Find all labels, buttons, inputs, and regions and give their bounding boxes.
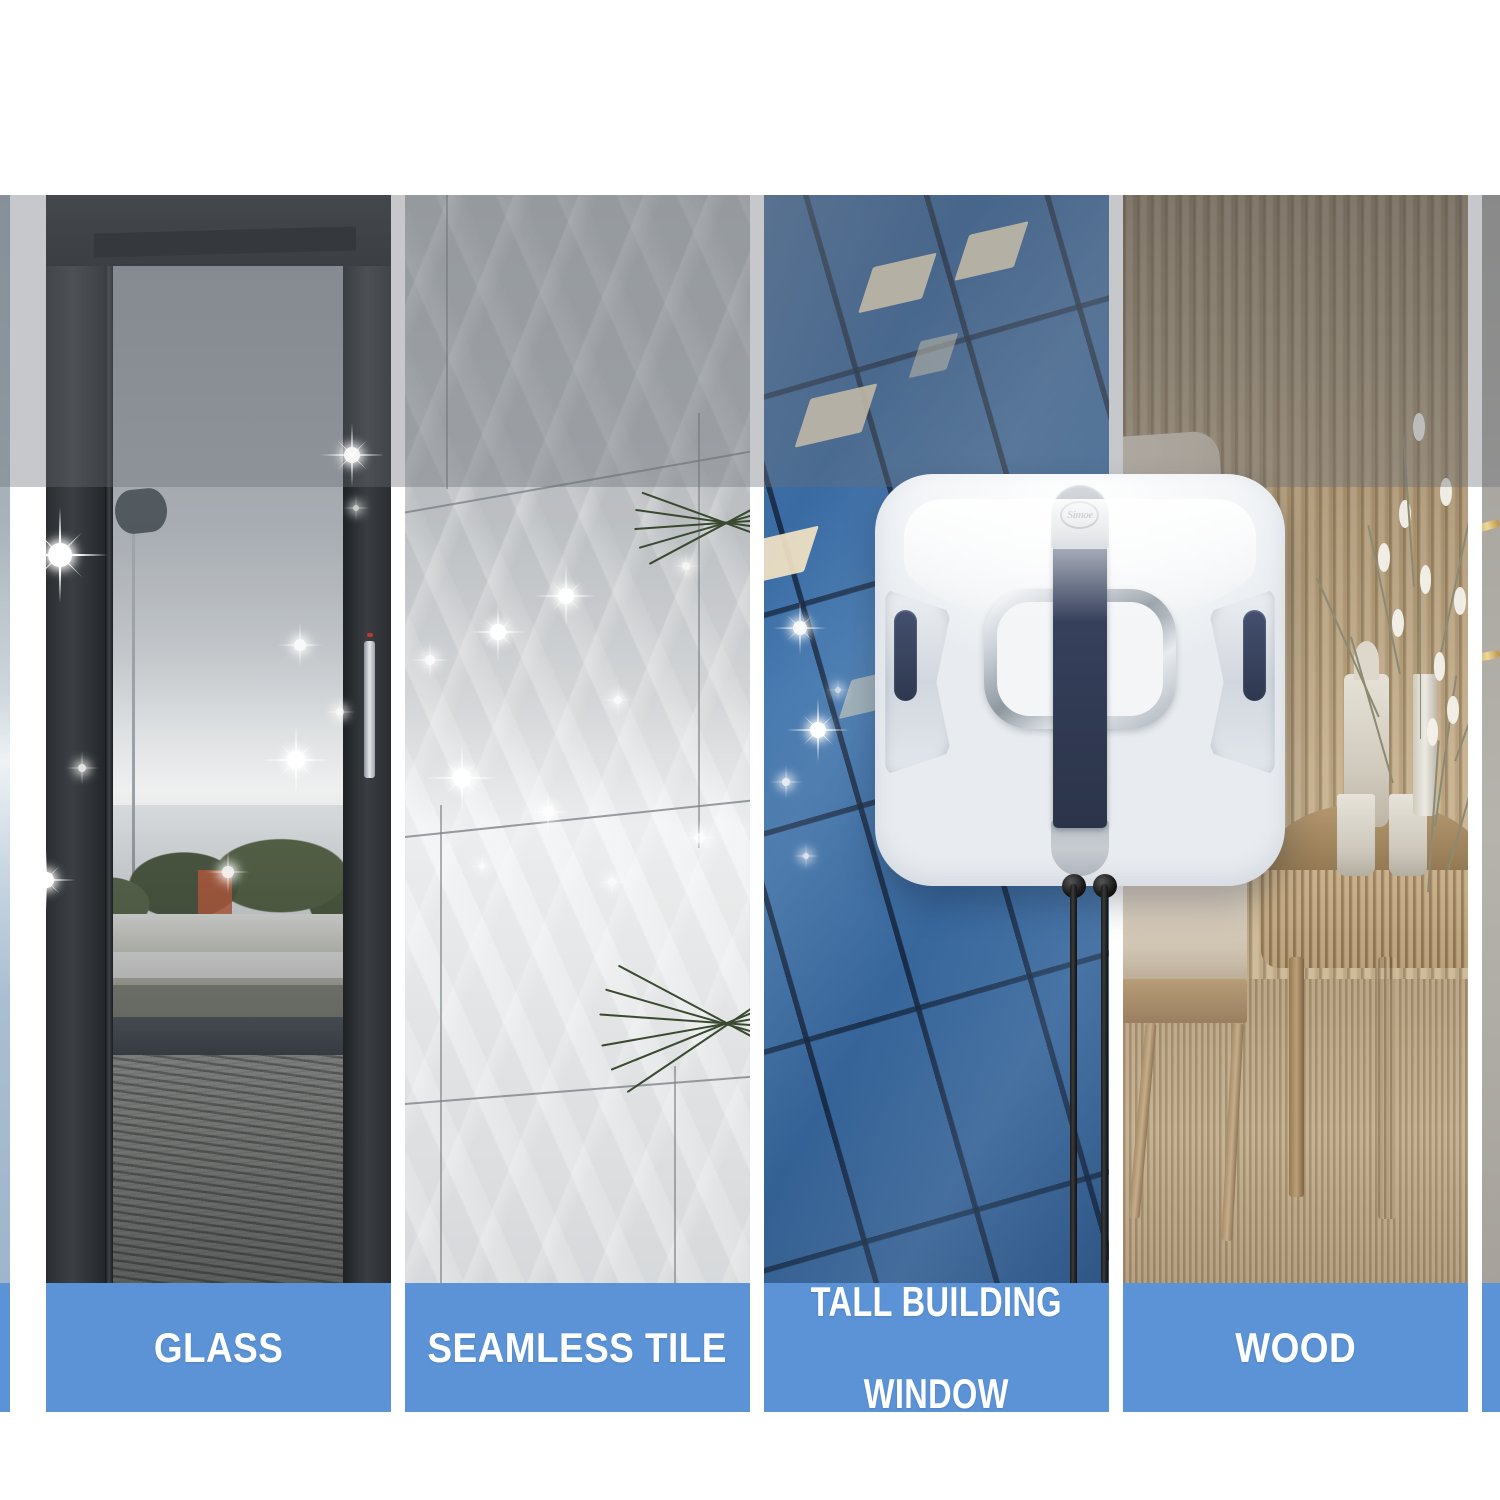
title-area-background	[0, 0, 1500, 195]
glass-tint-overlay	[113, 252, 343, 1284]
panel-seamless-tile	[405, 195, 750, 1284]
armchair-frame	[1123, 979, 1247, 1023]
robot-button-right[interactable]	[1243, 610, 1266, 701]
safety-cable	[1070, 884, 1077, 1290]
flower-twig	[1420, 587, 1422, 739]
caption-line-1: TALL BUILDING	[811, 1279, 1062, 1325]
coffee-table-skirt	[1261, 870, 1468, 968]
robot-center-strip	[1053, 536, 1106, 829]
flower-bloom	[1420, 565, 1432, 593]
ceramic-bowl	[1337, 794, 1375, 876]
brand-logo: Simoe	[1060, 501, 1099, 529]
door-handle	[364, 641, 376, 777]
coffee-table-leg	[1378, 957, 1395, 1218]
window-cleaning-robot[interactable]: Simoe	[875, 474, 1285, 886]
caption-edge-left	[0, 1283, 10, 1412]
glass-door-scene	[46, 195, 391, 1284]
caption-tall-building-window-label: TALL BUILDING WINDOW	[794, 1279, 1080, 1417]
grout-line-vertical	[446, 195, 448, 489]
flower-bloom	[1447, 696, 1459, 724]
door-frame-left	[46, 195, 105, 1284]
flower-bloom	[1454, 587, 1466, 615]
panel-edge-left	[0, 195, 10, 1284]
gold-fixture	[1482, 518, 1500, 533]
grout-line-vertical	[674, 1066, 676, 1284]
caption-edge-right	[1482, 1283, 1500, 1412]
sliver-right-scene	[1482, 195, 1500, 1284]
gold-fixture	[1482, 650, 1500, 663]
flower-bloom	[1392, 609, 1404, 637]
sliver-left-scene	[0, 195, 10, 1284]
grout-line-vertical	[698, 413, 700, 849]
robot-body: Simoe	[875, 474, 1285, 886]
coffee-table-leg	[1289, 957, 1305, 1197]
palm-fronds	[626, 522, 750, 523]
caption-glass-label: GLASS	[154, 1325, 284, 1371]
tile-wall-scene	[405, 195, 750, 1284]
caption-seamless-tile-label: SEAMLESS TILE	[428, 1325, 727, 1371]
caption-wood: WOOD	[1123, 1283, 1468, 1412]
caption-seamless-tile: SEAMLESS TILE	[405, 1283, 750, 1412]
caption-glass: GLASS	[46, 1283, 391, 1412]
grout-line-vertical	[440, 805, 442, 1284]
flower-bloom	[1378, 543, 1390, 571]
flower-bloom	[1413, 413, 1425, 441]
door-mullion	[105, 249, 113, 1284]
robot-top-cap: Simoe	[1051, 485, 1108, 549]
flower-bloom	[1434, 652, 1446, 680]
panel-edge-right	[1482, 195, 1500, 1284]
product-feature-graphic: WIDE RANGE OF APPLICATION	[0, 0, 1500, 1500]
panel-glass	[46, 195, 391, 1284]
caption-tall-building-window: TALL BUILDING WINDOW	[764, 1283, 1109, 1412]
palm-fronds	[626, 1023, 750, 1024]
caption-wood-label: WOOD	[1235, 1325, 1356, 1371]
robot-bottom-cap	[1051, 820, 1108, 876]
safety-cable	[1101, 884, 1108, 1284]
robot-button-left[interactable]	[894, 610, 917, 701]
caption-line-2: WINDOW	[811, 1371, 1062, 1417]
